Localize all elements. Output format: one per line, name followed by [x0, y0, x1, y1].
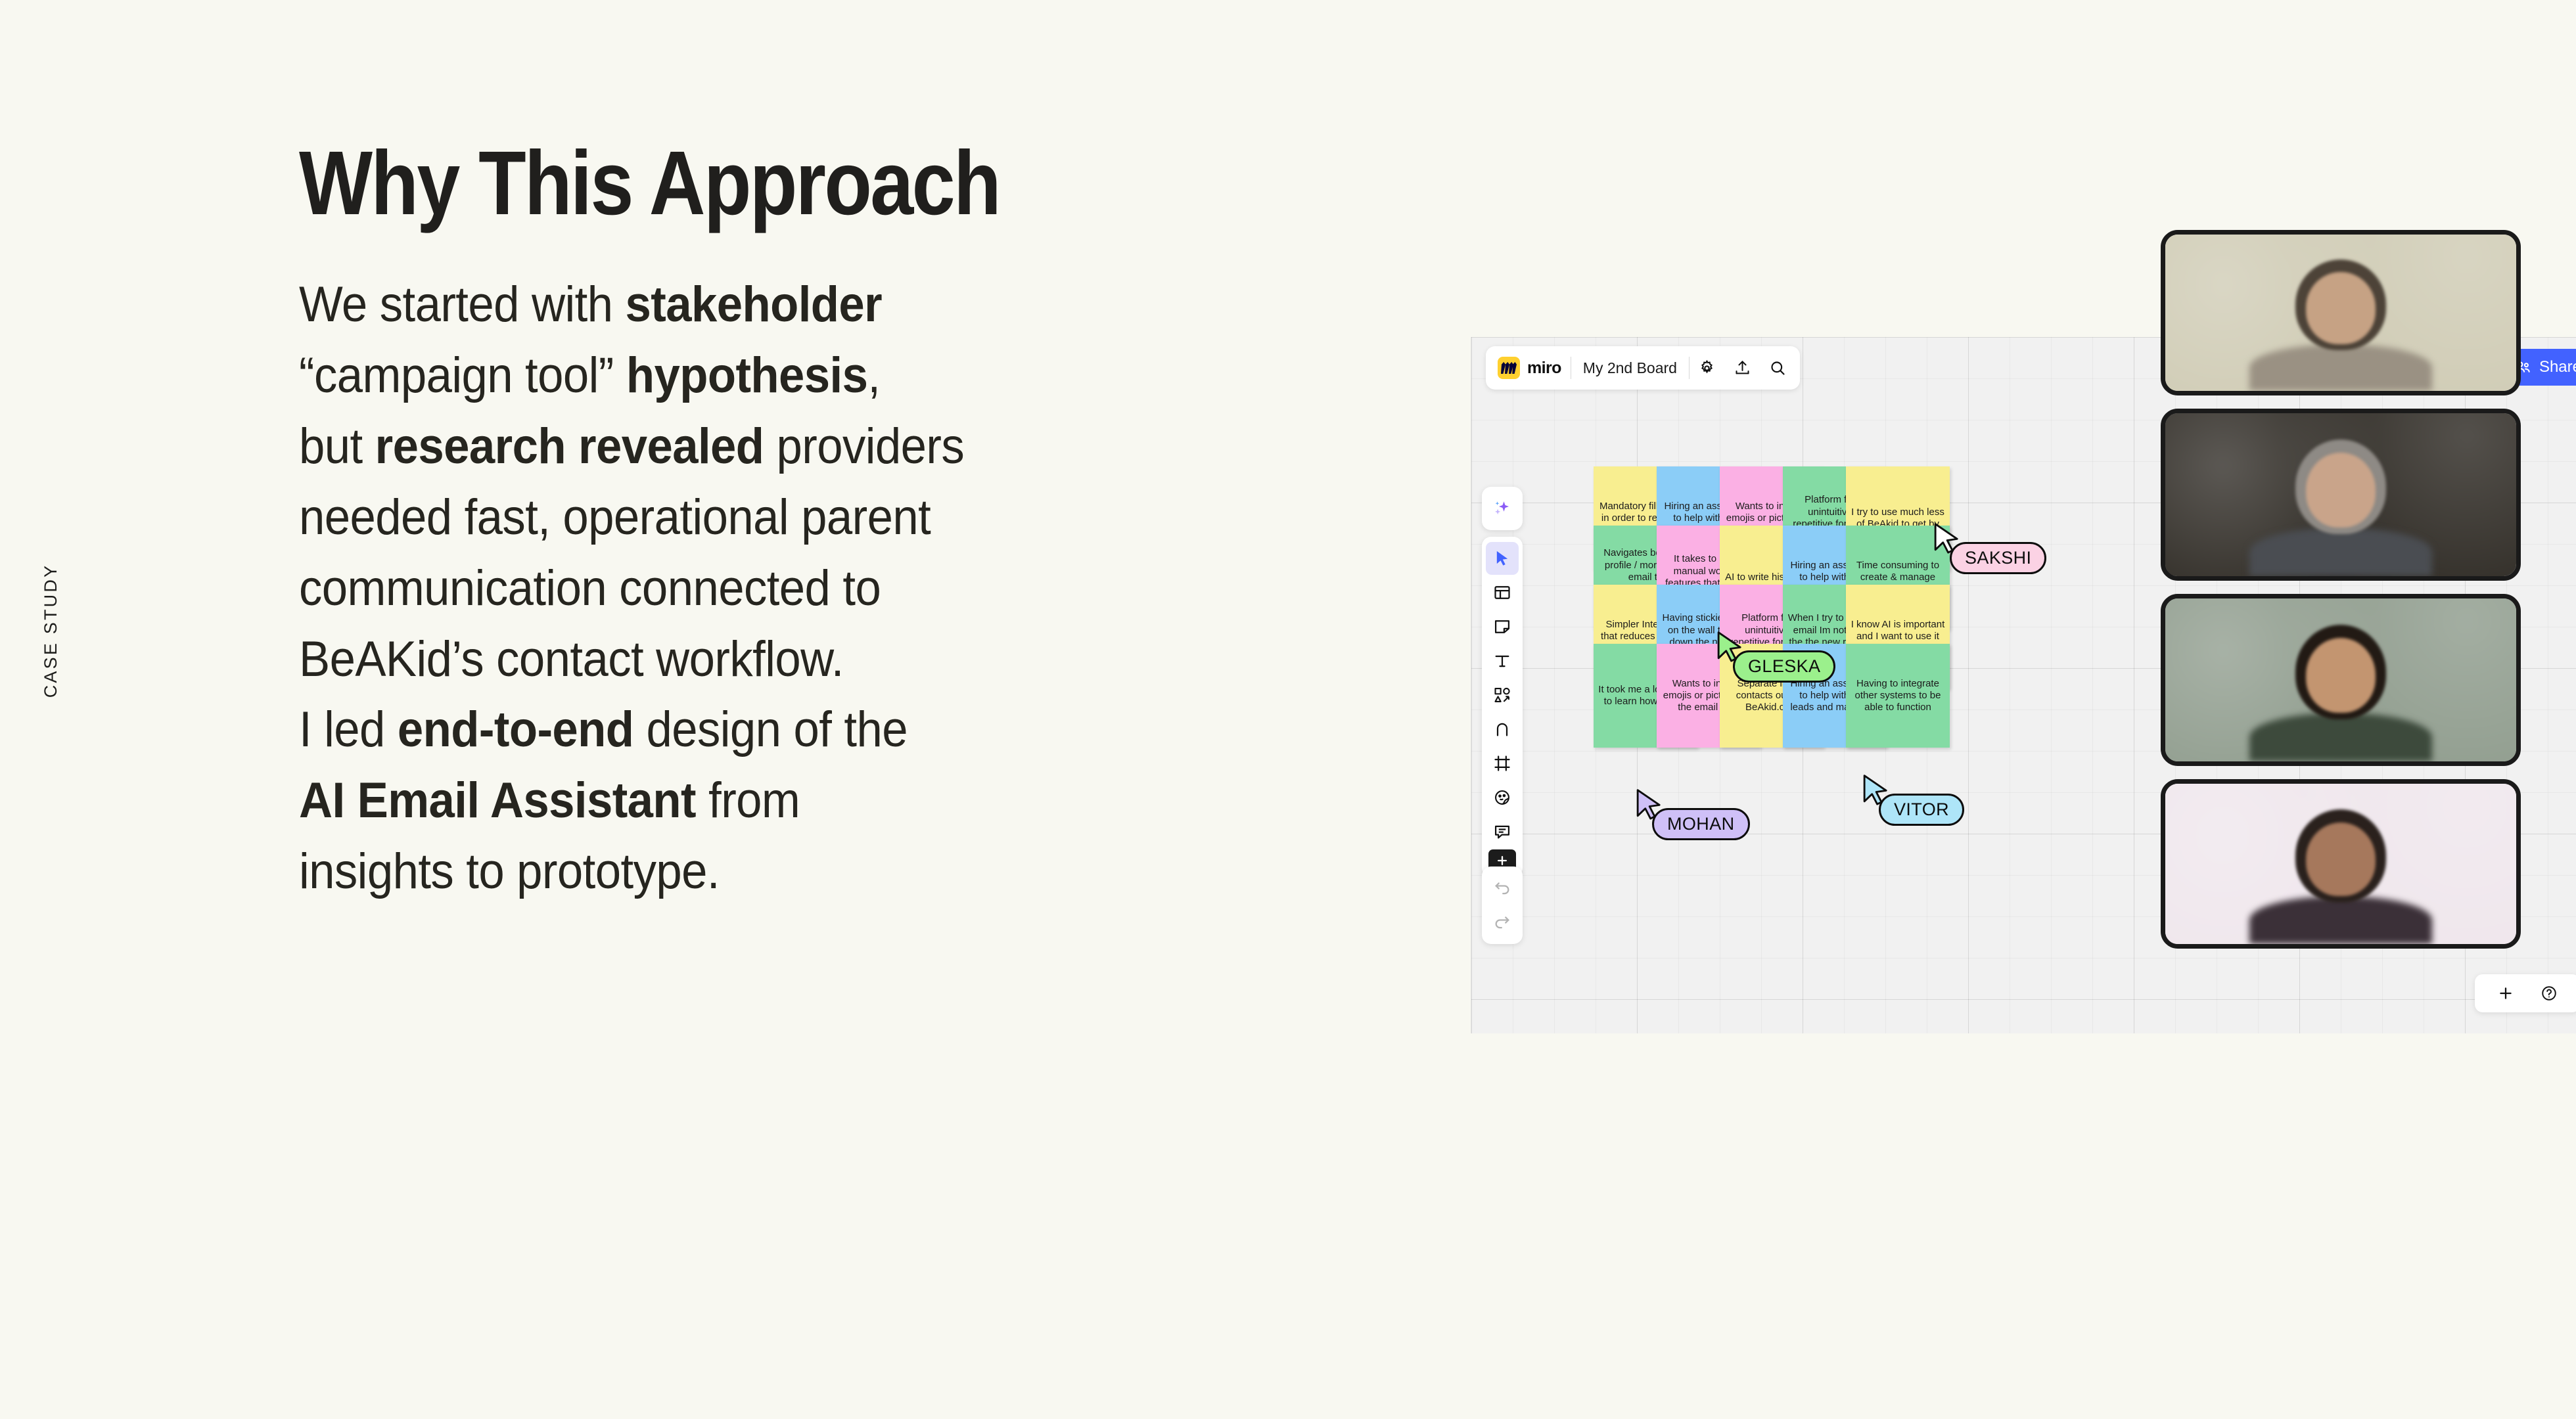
video-feed [2165, 235, 2516, 391]
body-line-1: “campaign tool” hypothesis, [299, 340, 1253, 411]
collab-cursor-name: MOHAN [1652, 808, 1750, 840]
video-tile[interactable] [2161, 230, 2521, 395]
participant-face [2306, 272, 2376, 344]
body-line-6: I led end-to-end design of the [299, 694, 1253, 765]
collab-cursor-name: GLESKA [1733, 650, 1835, 683]
participant-torso [2249, 528, 2432, 576]
miro-logo[interactable]: miro [1490, 357, 1571, 379]
page-title: Why This Approach [299, 138, 1000, 229]
gear-icon[interactable] [1690, 350, 1725, 386]
body-line-3: needed fast, operational parent [299, 482, 1253, 553]
video-tile[interactable] [2161, 594, 2521, 766]
undo-icon[interactable] [1486, 872, 1519, 905]
share-label: Share [2539, 358, 2576, 376]
comment-icon[interactable] [1486, 815, 1519, 848]
cursor-icon[interactable] [1486, 542, 1519, 575]
participant-torso [2249, 344, 2432, 391]
body-line-8: insights to prototype. [299, 836, 1253, 907]
board-name[interactable]: My 2nd Board [1571, 359, 1689, 377]
shapes-icon[interactable] [1486, 679, 1519, 711]
sticky-note[interactable]: Having to integrate other systems to be … [1846, 644, 1950, 748]
pen-icon[interactable] [1486, 713, 1519, 746]
search-icon[interactable] [1760, 350, 1796, 386]
miro-ai-toolbar[interactable] [1482, 487, 1523, 530]
miro-mark-icon [1498, 357, 1520, 379]
body-line-7: AI Email Assistant from [299, 765, 1253, 836]
text-icon[interactable] [1486, 644, 1519, 677]
sticky-note-icon[interactable] [1486, 610, 1519, 643]
body-line-5: BeAKid’s contact workflow. [299, 624, 1253, 695]
participant-torso [2249, 896, 2432, 944]
sticky-note-text: Having to integrate other systems to be … [1851, 678, 1945, 714]
video-feed [2165, 598, 2516, 761]
participant-face [2306, 822, 2376, 896]
sticker-icon[interactable] [1486, 781, 1519, 814]
video-feed [2165, 784, 2516, 944]
miro-wordmark: miro [1527, 359, 1561, 378]
video-tile[interactable] [2161, 779, 2521, 949]
redo-icon[interactable] [1486, 906, 1519, 939]
upload-icon[interactable] [1725, 350, 1760, 386]
participant-face [2306, 453, 2376, 528]
video-tile[interactable] [2161, 409, 2521, 581]
miro-main-toolbar[interactable] [1482, 537, 1523, 877]
body-line-4: communication connected to [299, 553, 1253, 624]
participant-face [2306, 638, 2376, 713]
frame-icon[interactable] [1486, 747, 1519, 780]
case-study-rail-label: CASE STUDY [41, 564, 61, 698]
collab-cursor-name: VITOR [1879, 794, 1964, 826]
collab-cursor-name: SAKSHI [1950, 542, 2046, 574]
body-line-0: We started with stakeholder [299, 269, 1253, 340]
video-feed [2165, 413, 2516, 576]
board-zoom-controls[interactable] [2475, 974, 2576, 1012]
body-line-2: but research revealed providers [299, 411, 1253, 482]
template-icon[interactable] [1486, 576, 1519, 609]
ai-sparkle-icon[interactable] [1486, 492, 1519, 525]
body-copy: We started with stakeholder“campaign too… [299, 269, 1324, 907]
zoom-in-icon[interactable] [2489, 977, 2522, 1010]
miro-history-toolbar[interactable] [1482, 867, 1523, 944]
slide-canvas: CASE STUDY Why This Approach We started … [0, 0, 2576, 1419]
help-icon[interactable] [2533, 977, 2565, 1010]
miro-top-toolbar[interactable]: miro My 2nd Board [1486, 346, 1800, 390]
participant-torso [2249, 713, 2432, 761]
